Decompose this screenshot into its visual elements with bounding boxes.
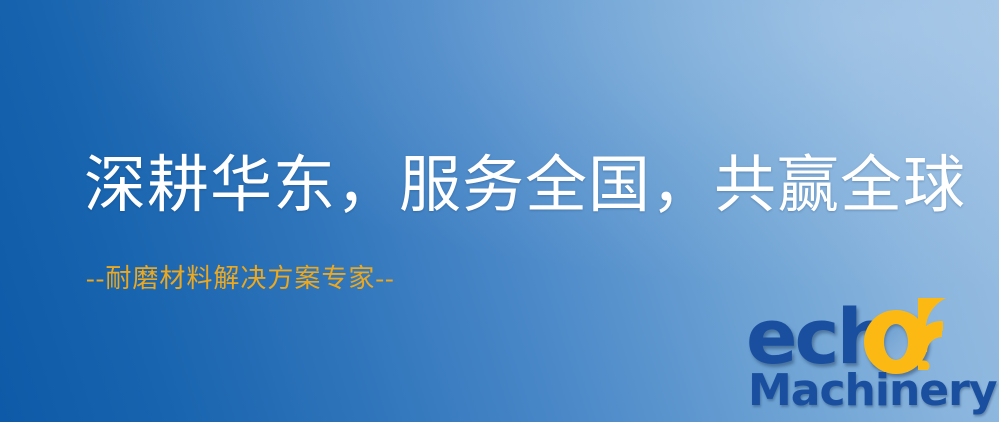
logo-brand-name: Machinery®	[748, 366, 999, 419]
echo-waves-icon	[918, 298, 998, 370]
banner-headline: 深耕华东，服务全国，共赢全球	[84, 155, 966, 217]
letter-o-counter	[884, 324, 908, 360]
logo-brand-text: Machinery	[748, 365, 997, 416]
echo-machinery-logo[interactable]: ech	[742, 302, 994, 420]
promo-banner: 深耕华东，服务全国，共赢全球 --耐磨材料解决方案专家-- ech	[0, 0, 999, 422]
banner-subtitle: --耐磨材料解决方案专家--	[86, 266, 395, 292]
